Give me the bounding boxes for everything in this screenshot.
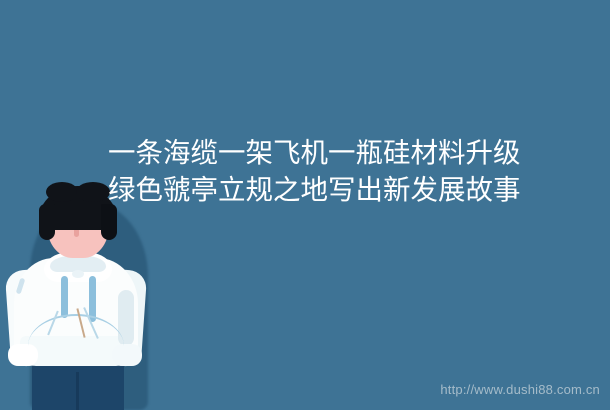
drawstring-knot — [72, 270, 84, 278]
pants-seam — [76, 372, 79, 410]
cuff-left — [8, 344, 38, 366]
cuff-right — [112, 344, 142, 366]
hair-sideburn-left — [39, 204, 55, 240]
hair-top-right — [76, 182, 110, 202]
headline-line-1: 一条海缆一架飞机一瓶硅材料升级 — [108, 134, 608, 171]
hair-top-left — [46, 182, 78, 202]
headline-line-2: 绿色虢亭立规之地写出新发展故事 — [108, 171, 608, 208]
person-illustration — [6, 186, 156, 410]
headline-text: 一条海缆一架飞机一瓶硅材料升级 绿色虢亭立规之地写出新发展故事 — [108, 134, 608, 208]
drawstring-left — [61, 276, 68, 318]
hair-sideburn-right — [101, 204, 117, 240]
site-watermark: http://www.dushi88.com.cn — [440, 382, 600, 397]
banner-image: 一条海缆一架飞机一瓶硅材料升级 绿色虢亭立规之地写出新发展故事 http://w… — [0, 0, 610, 410]
